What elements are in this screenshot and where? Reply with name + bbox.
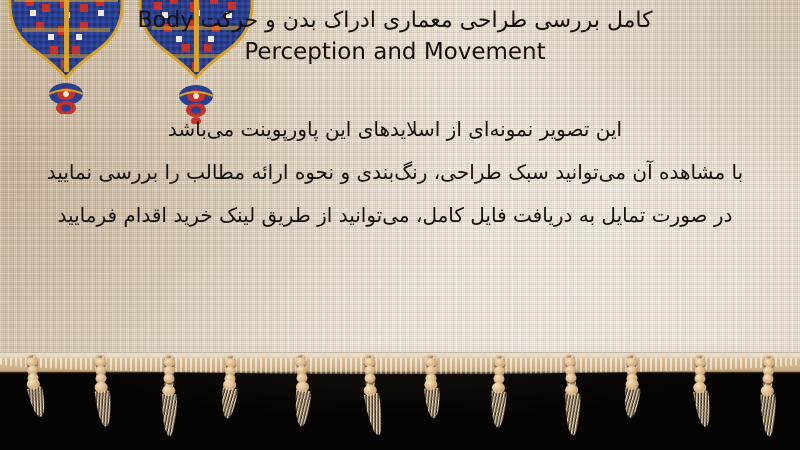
slide-title-block: کامل بررسی طراحی معماری ادراک بدن و حرکت… (0, 6, 790, 68)
body-line-3: در صورت تمایل به دریافت فایل کامل، می‌تو… (0, 194, 790, 237)
body-line-2: با مشاهده آن می‌توانید سبک طراحی، رنگ‌بن… (0, 151, 790, 194)
body-line-1: این تصویر نمونه‌ای از اسلایدهای این پاور… (0, 108, 790, 151)
slide-title-persian: کامل بررسی طراحی معماری ادراک بدن و حرکت… (0, 6, 790, 36)
slide-body-block: این تصویر نمونه‌ای از اسلایدهای این پاور… (0, 108, 790, 237)
slide-title-english: Perception and Movement (0, 37, 790, 68)
slide-canvas: کامل بررسی طراحی معماری ادراک بدن و حرکت… (0, 0, 800, 450)
